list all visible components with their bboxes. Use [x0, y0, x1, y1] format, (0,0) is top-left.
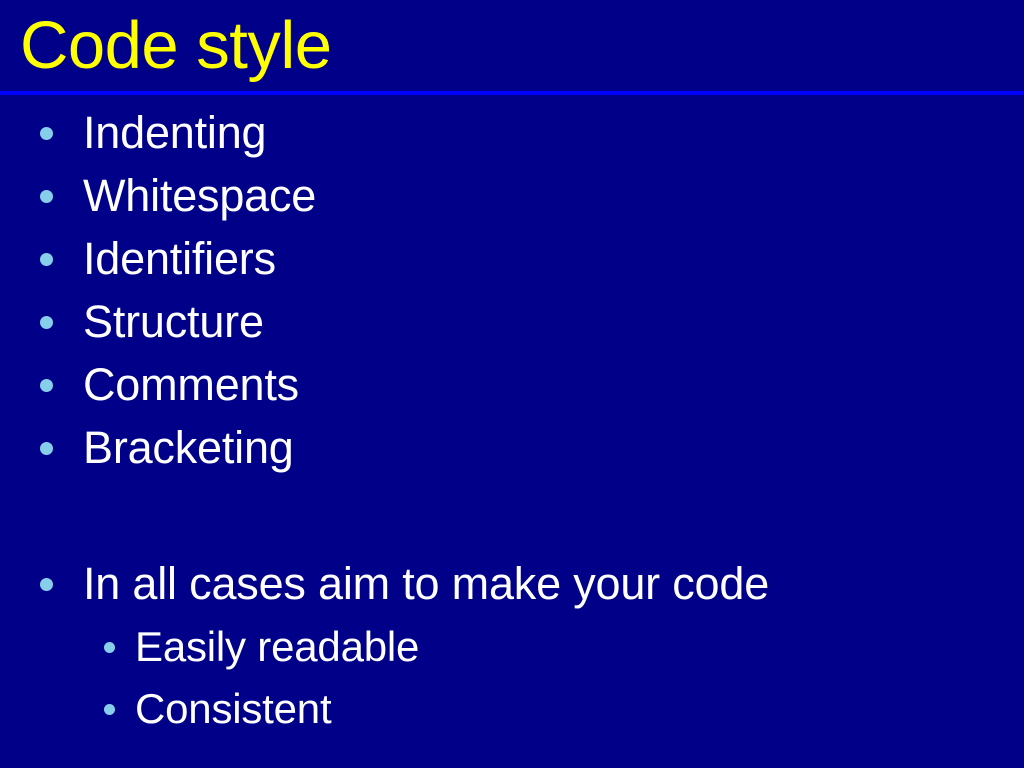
bullet-item: Consistent: [104, 682, 331, 736]
bullet-point-icon: [40, 316, 53, 329]
bullet-item-label: Bracketing: [83, 420, 294, 476]
bullet-item-label: Identifiers: [83, 231, 276, 287]
bullet-item-label: Indenting: [83, 105, 266, 161]
bullet-item: Bracketing: [40, 420, 294, 476]
bullet-item-label: Consistent: [135, 682, 331, 736]
bullet-point-icon: [104, 642, 115, 653]
bullet-item: Indenting: [40, 105, 266, 161]
bullet-item-label: Structure: [83, 294, 264, 350]
bullet-point-icon: [40, 253, 53, 266]
slide-body: IndentingWhitespaceIdentifiersStructureC…: [0, 100, 1024, 768]
bullet-point-icon: [40, 379, 53, 392]
page-title: Code style: [20, 6, 1004, 86]
title-divider-rule: [0, 91, 1024, 95]
bullet-point-icon: [40, 190, 53, 203]
bullet-item-label: Easily readable: [135, 620, 419, 674]
bullet-point-icon: [104, 704, 115, 715]
bullet-point-icon: [40, 578, 53, 591]
bullet-item: In all cases aim to make your code: [40, 556, 769, 612]
bullet-item: Easily readable: [104, 620, 419, 674]
bullet-item-label: Comments: [83, 357, 299, 413]
bullet-point-icon: [40, 442, 53, 455]
bullet-item: Identifiers: [40, 231, 276, 287]
bullet-item: Comments: [40, 357, 299, 413]
bullet-item: Structure: [40, 294, 264, 350]
bullet-item: Whitespace: [40, 168, 316, 224]
slide-canvas: Code style IndentingWhitespaceIdentifier…: [0, 0, 1024, 768]
bullet-item-label: Whitespace: [83, 168, 316, 224]
bullet-item-label: In all cases aim to make your code: [83, 556, 769, 612]
bullet-point-icon: [40, 127, 53, 140]
